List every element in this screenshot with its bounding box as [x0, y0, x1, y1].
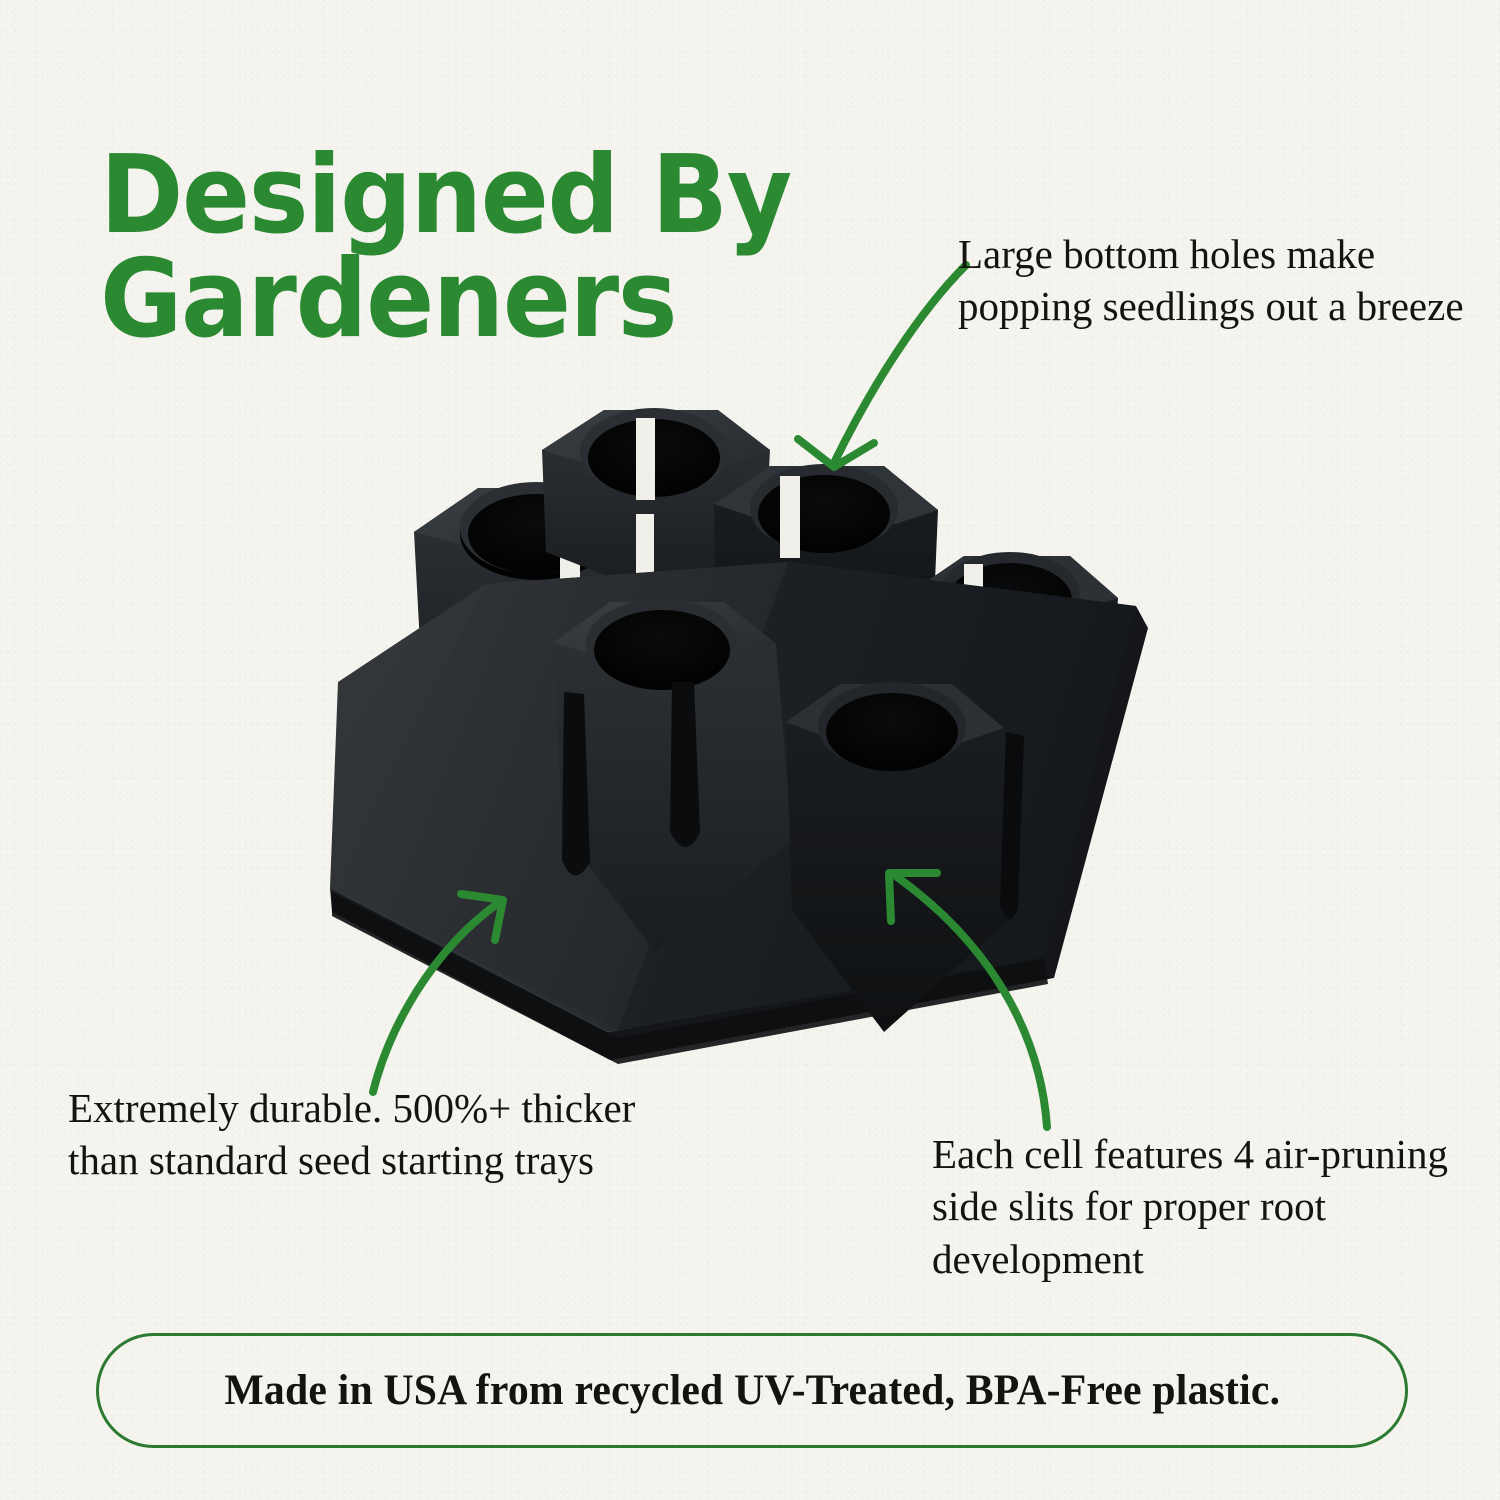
callout-text-durable: Extremely durable. 500%+ thicker than st… [68, 1082, 648, 1187]
banner-text: Made in USA from recycled UV-Treated, BP… [224, 1366, 1280, 1415]
cell-slit [636, 418, 655, 500]
callout-text-slits: Each cell features 4 air-pruning side sl… [932, 1128, 1452, 1285]
page-title-line-2: Gardeners [100, 248, 863, 352]
cell-slit [780, 476, 800, 558]
callout-text-holes: Large bottom holes make popping seedling… [958, 228, 1478, 333]
infographic-page: Designed By Gardeners [0, 0, 1500, 1500]
product-image-seed-tray [318, 392, 1148, 1082]
made-in-usa-banner: Made in USA from recycled UV-Treated, BP… [96, 1333, 1408, 1448]
page-title: Designed By Gardeners [100, 144, 863, 351]
